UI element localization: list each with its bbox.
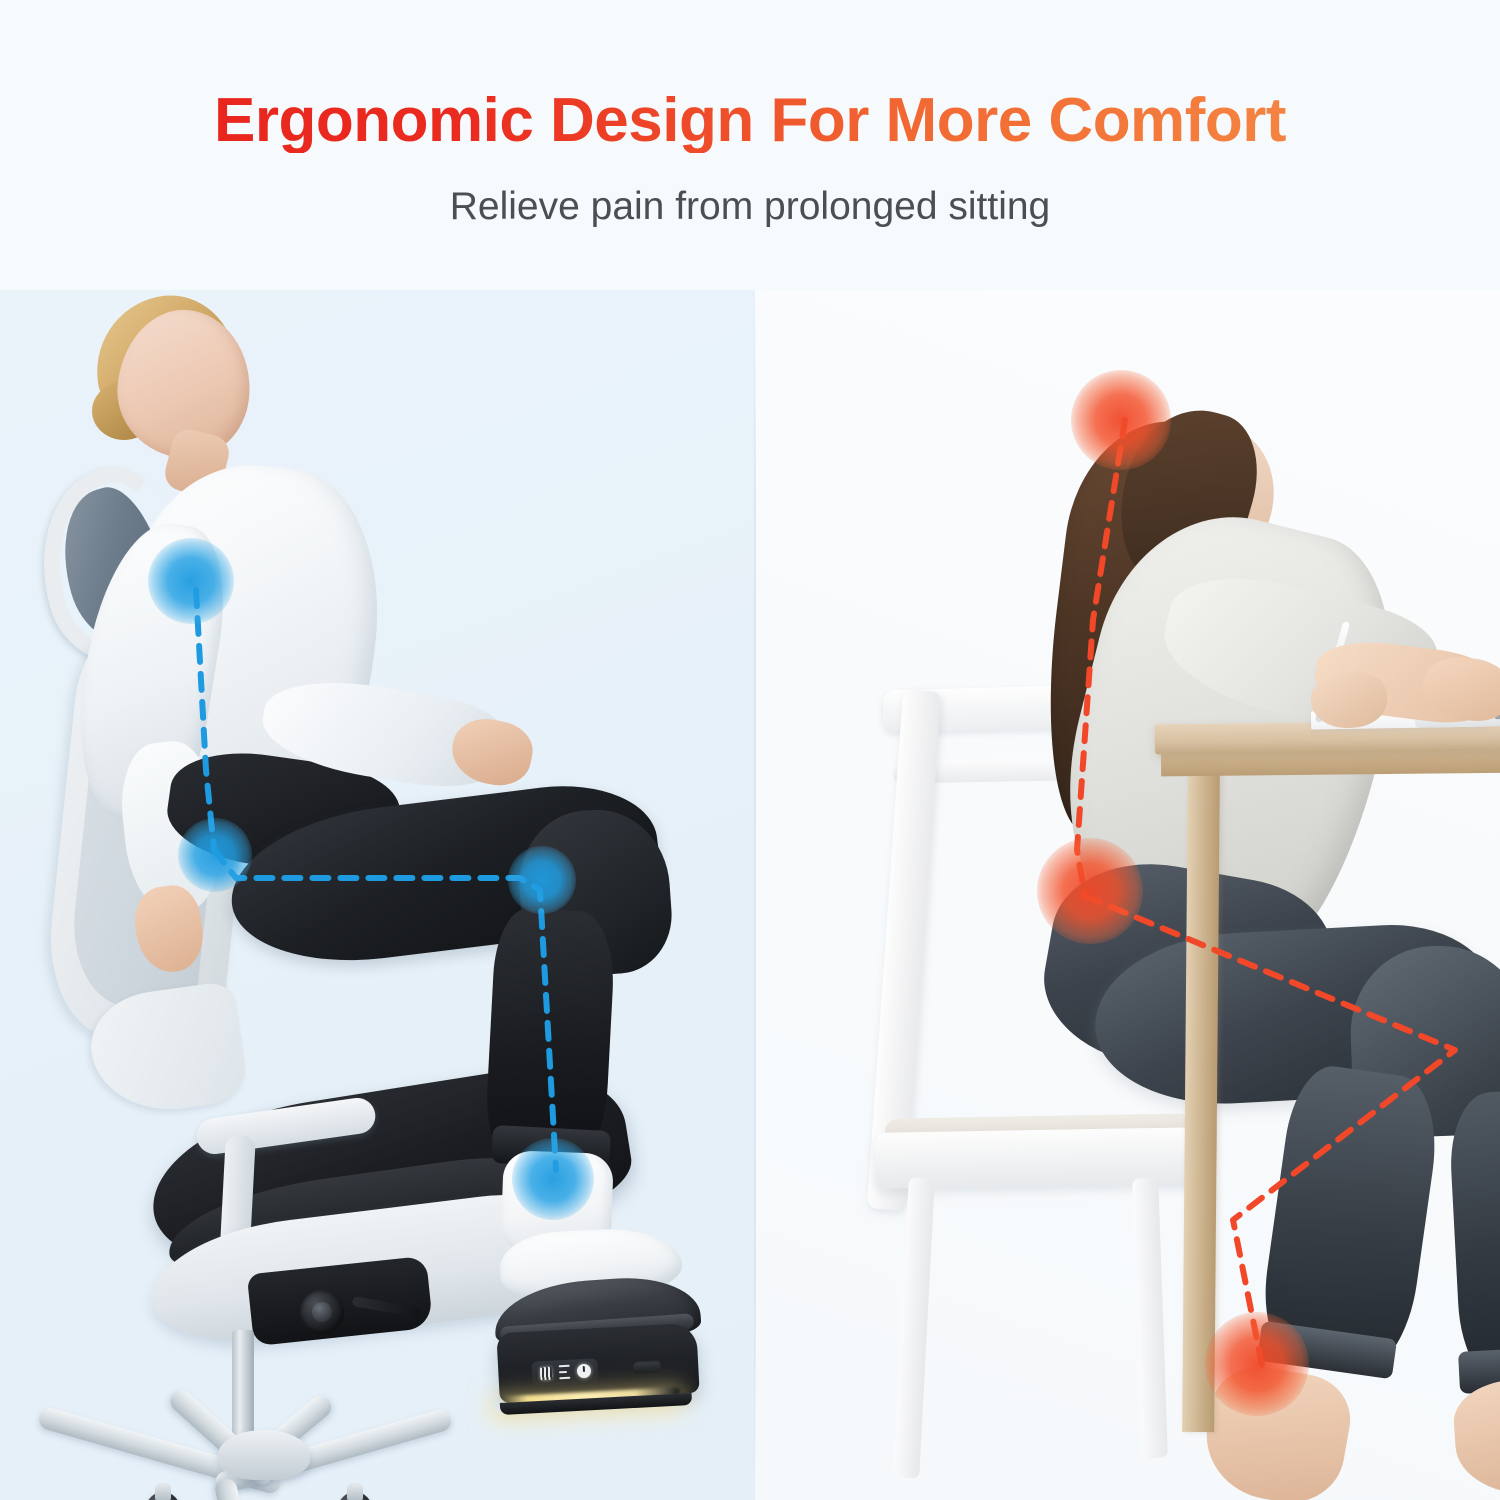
panel-correct-posture [0, 290, 755, 1500]
page-title: Ergonomic Design For More Comfort [0, 0, 1500, 153]
panel-poor-posture [755, 290, 1500, 1500]
scene-office-chair [0, 290, 755, 1500]
posture-guide-poor [755, 290, 1500, 1500]
comparison-panels [0, 290, 1500, 1500]
panel-divider [754, 290, 756, 1500]
header: Ergonomic Design For More Comfort Reliev… [0, 0, 1500, 290]
promo-image: Ergonomic Design For More Comfort Reliev… [0, 0, 1500, 1500]
page-subtitle: Relieve pain from prolonged sitting [0, 153, 1500, 229]
posture-guide-correct [0, 290, 755, 1500]
scene-desk [755, 290, 1500, 1500]
